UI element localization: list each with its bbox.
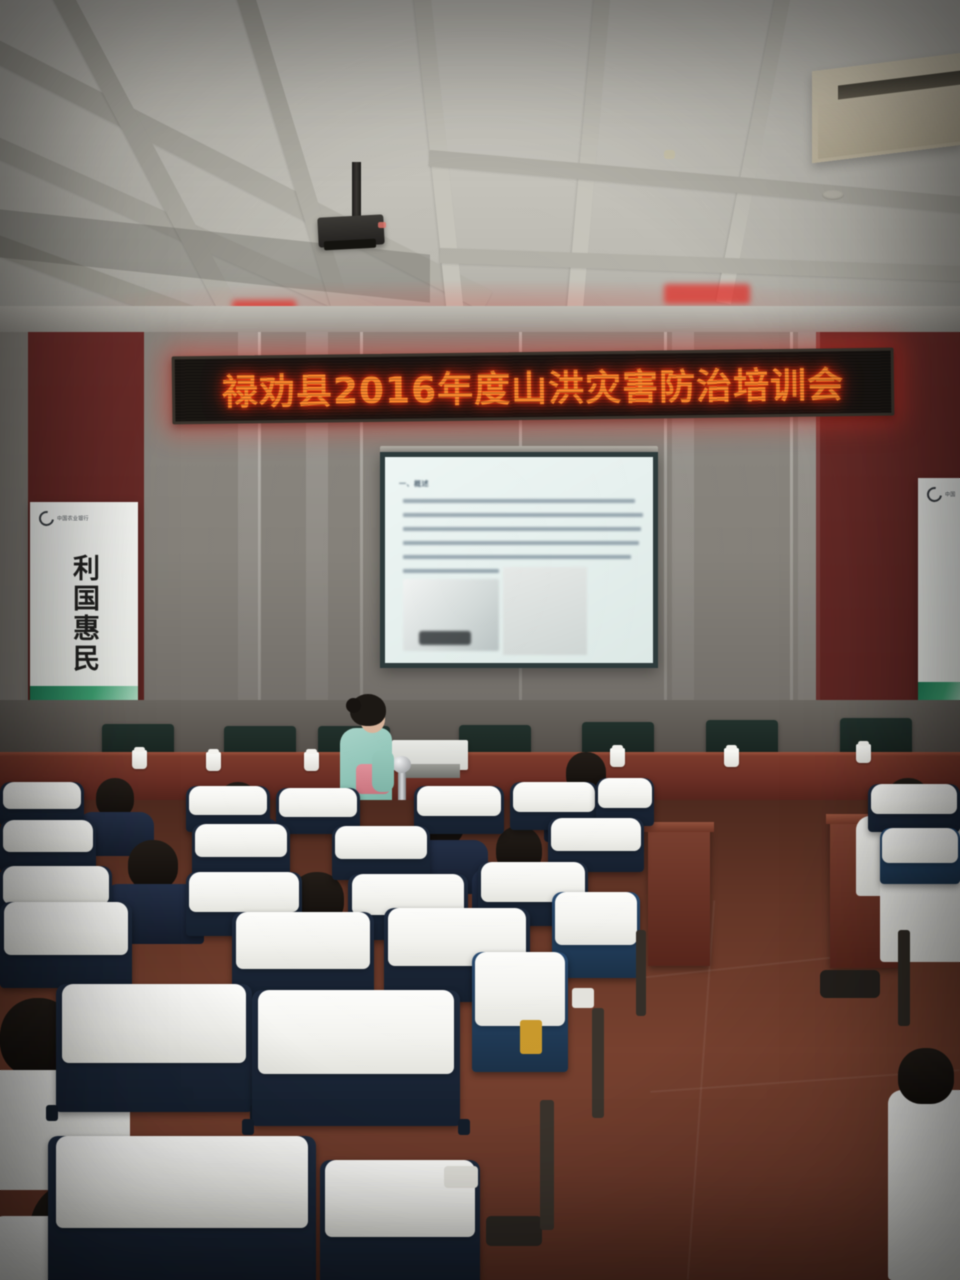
- floor-object: [820, 970, 880, 998]
- microphone-stand: [398, 770, 406, 804]
- side-desk: [648, 826, 710, 966]
- conference-hall-photo: 禄劝县2016年度山洪灾害防治培训会 一、概述 中国农业银行 利国惠民 中国: [0, 0, 960, 1280]
- slide-heading: 一、概述: [399, 479, 429, 489]
- floor-object: [444, 1166, 478, 1188]
- water-cup: [304, 752, 319, 771]
- slide-text-line: [403, 541, 639, 545]
- chair-cover: [258, 990, 454, 1074]
- chair-cover: [195, 824, 287, 857]
- chair-cover: [513, 782, 596, 812]
- ceiling-beam: [439, 248, 960, 282]
- slide-text-line: [403, 527, 641, 531]
- bank-logo-icon: [924, 484, 945, 505]
- bank-logo-icon: [36, 508, 57, 529]
- audience-chair: [48, 1136, 316, 1280]
- attendee-head: [898, 1048, 954, 1104]
- chair-cover: [3, 866, 108, 904]
- led-banner-text: 禄劝县2016年度山洪灾害防治培训会: [175, 356, 892, 417]
- floor-object: [572, 988, 594, 1008]
- presenter-arm: [372, 750, 394, 792]
- slide-surface: 一、概述: [385, 457, 653, 663]
- presenter-hair-bun: [346, 698, 361, 713]
- audience-chair: [332, 826, 430, 880]
- chair-cover: [551, 818, 641, 851]
- chair-cover: [598, 778, 653, 808]
- chair-leg: [540, 1100, 554, 1230]
- chair-armrest: [46, 1105, 58, 1121]
- chair-leg: [592, 1008, 604, 1118]
- chair-cover: [56, 1136, 308, 1228]
- water-cup: [132, 750, 147, 769]
- audience-chair: [0, 902, 132, 988]
- led-reflection-right: [664, 284, 750, 304]
- chair-leg: [898, 930, 910, 1026]
- water-cup: [206, 752, 221, 771]
- led-banner: 禄劝县2016年度山洪灾害防治培训会: [172, 348, 895, 425]
- smoke-detector-icon: [822, 190, 844, 200]
- chair-cover: [882, 828, 957, 863]
- chair-armrest: [242, 1119, 254, 1135]
- audience-chair: [252, 990, 460, 1126]
- audience-chair: [880, 828, 960, 884]
- chair-cover: [417, 786, 502, 816]
- bank-logo: 中国农业银行: [39, 511, 89, 526]
- chair-cover: [279, 788, 358, 817]
- audience-chair: [192, 824, 290, 878]
- chair-cover: [62, 984, 246, 1063]
- chair-cover: [475, 952, 565, 1026]
- banner-left-slogan: 利国惠民: [69, 554, 99, 674]
- bank-logo-text: 中国: [945, 491, 956, 498]
- wall-banner-right: 中国: [918, 478, 960, 716]
- chair-leg: [636, 930, 646, 1016]
- slide-text-line: [403, 569, 499, 573]
- ceiling-beam: [429, 150, 960, 215]
- projector-mount-pole: [352, 162, 361, 220]
- audience-chair: [0, 820, 96, 872]
- chair-cover: [4, 902, 128, 955]
- bank-logo-text: 中国农业银行: [57, 515, 89, 522]
- slide-image-detail: [419, 631, 471, 645]
- slide-text-line: [403, 499, 635, 503]
- chair-cover: [189, 786, 268, 815]
- side-desk-top: [644, 822, 714, 832]
- chair-cover: [555, 892, 638, 945]
- chair-cover: [236, 912, 369, 969]
- ceiling: [0, 0, 960, 330]
- chair-cover: [871, 784, 957, 814]
- audience-chair: [868, 784, 960, 832]
- water-cup: [856, 744, 871, 763]
- chair-cover: [3, 820, 93, 852]
- sprinkler-icon: [664, 150, 675, 159]
- projection-screen: 一、概述: [380, 452, 658, 668]
- water-cup: [610, 748, 625, 767]
- water-cup: [724, 748, 739, 767]
- chair-cover: [335, 826, 427, 859]
- slide-image-right: [503, 567, 587, 655]
- slide-text-line: [403, 513, 643, 517]
- bank-logo: 中国: [927, 487, 956, 502]
- wall-banner-left: 中国农业银行 利国惠民: [30, 502, 138, 720]
- wall-top-trim: [0, 306, 960, 332]
- chair-armrest: [458, 1119, 470, 1135]
- floor-object: [520, 1020, 542, 1054]
- chair-cover: [189, 872, 298, 912]
- slide-text-line: [403, 555, 631, 559]
- audience-chair: [472, 952, 568, 1072]
- audience-chair: [56, 984, 252, 1112]
- attendee-head: [128, 840, 178, 890]
- chair-cover: [3, 782, 82, 809]
- floor-object: [486, 1216, 542, 1246]
- projector-status-led-icon: [378, 222, 386, 228]
- attendee-shoulders: [888, 1090, 960, 1280]
